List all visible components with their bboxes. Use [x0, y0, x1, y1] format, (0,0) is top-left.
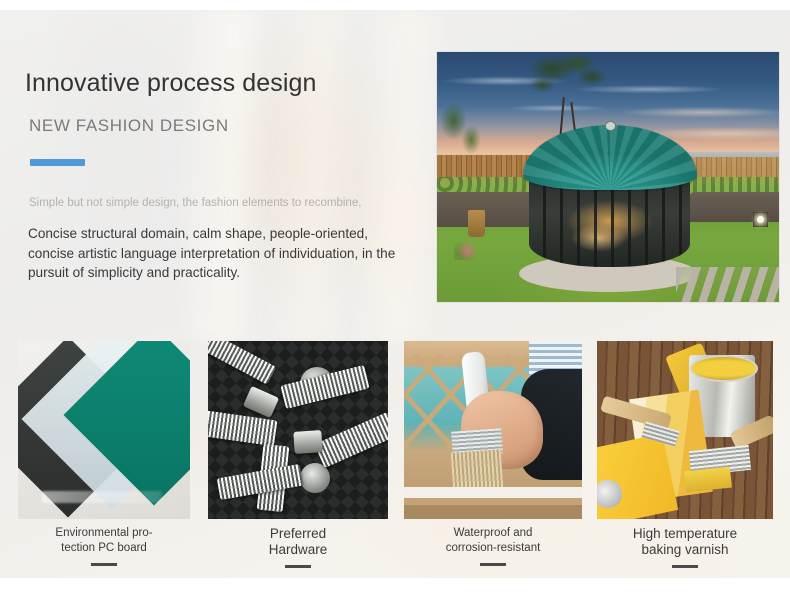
- feature-caption-row: Environmental pro- tection PC board Pref…: [0, 526, 790, 578]
- feature-caption-hardware: Preferred Hardware: [208, 526, 388, 568]
- feature-caption-text: Preferred Hardware: [208, 526, 388, 557]
- feature-caption-rule: [91, 563, 117, 566]
- headline-block: Innovative process design NEW FASHION DE…: [25, 66, 425, 283]
- hero-stone-path: [676, 267, 779, 302]
- feature-thumbnail-row: [0, 341, 790, 521]
- page-subtitle: NEW FASHION DESIGN: [29, 115, 425, 137]
- top-margin: [0, 0, 790, 10]
- hero-canopy-finial: [605, 121, 616, 131]
- hero-gazebo-body: [529, 177, 690, 267]
- accent-bar: [30, 159, 85, 166]
- paintbrush-wood-board: [404, 487, 582, 519]
- feature-image-varnish: [597, 341, 773, 519]
- banner-content: Innovative process design NEW FASHION DE…: [0, 10, 790, 578]
- feature-caption-waterproof: Waterproof and corrosion-resistant: [404, 526, 582, 566]
- feature-caption-rule: [480, 563, 506, 566]
- feature-caption-pc-board: Environmental pro- tection PC board: [18, 526, 190, 566]
- feature-caption-text: High temperature baking varnish: [597, 526, 773, 557]
- feature-image-paintbrush: [404, 341, 582, 519]
- page-title: Innovative process design: [25, 66, 425, 100]
- hero-palm-plant: [437, 87, 492, 172]
- feature-caption-rule: [672, 565, 698, 568]
- varnish-paint-surface: [690, 355, 757, 382]
- hero-planter-wall-left: [437, 192, 533, 227]
- feature-caption-text: Environmental pro- tection PC board: [18, 526, 190, 555]
- feature-image-pc-board: [18, 341, 190, 519]
- tagline-text: Simple but not simple design, the fashio…: [29, 195, 425, 211]
- promo-banner: Innovative process design NEW FASHION DE…: [0, 0, 790, 601]
- paintbrush-bristles: [451, 450, 503, 493]
- feature-image-hardware: [208, 341, 388, 519]
- bottom-margin: [0, 578, 790, 601]
- pc-watermark: [42, 491, 162, 503]
- hero-flowers: [454, 242, 481, 260]
- feature-caption-varnish: High temperature baking varnish: [597, 526, 773, 568]
- feature-caption-rule: [285, 565, 311, 568]
- hero-planter-pot: [468, 210, 485, 238]
- feature-caption-text: Waterproof and corrosion-resistant: [404, 526, 582, 555]
- hero-garden-lamp-icon: [753, 212, 768, 227]
- hero-image: [437, 52, 779, 302]
- hardware-bolt-head-2: [293, 430, 322, 454]
- body-copy: Concise structural domain, calm shape, p…: [28, 224, 408, 283]
- hero-gazebo-mullions: [529, 177, 690, 267]
